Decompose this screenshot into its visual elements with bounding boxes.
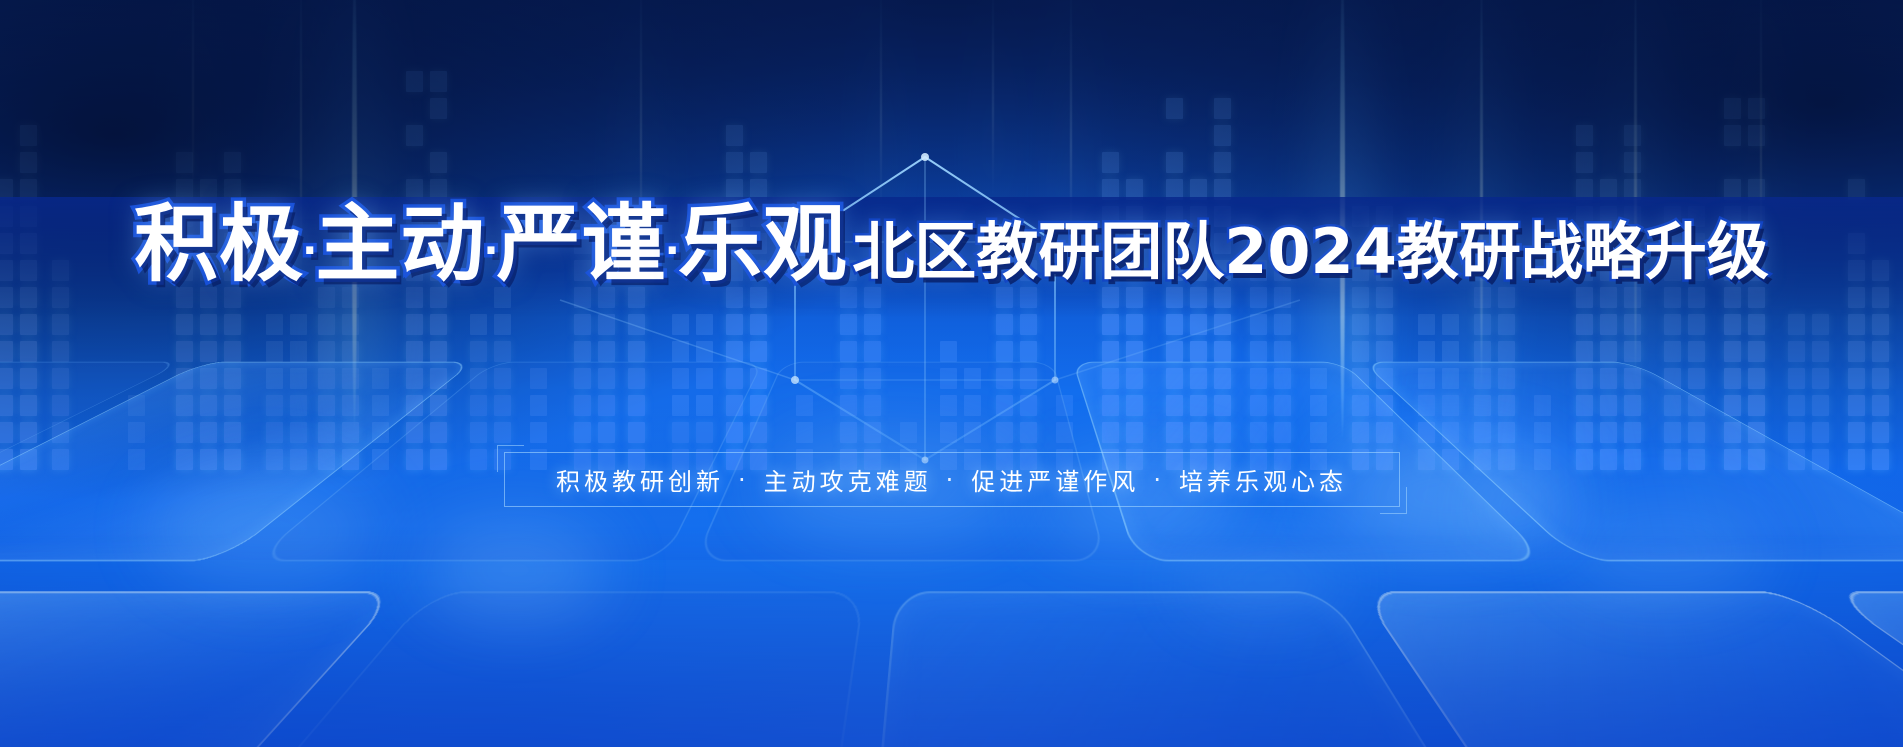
tagline-separator: · <box>940 466 964 494</box>
title-word: 严谨 <box>497 195 667 293</box>
title-word: 积极 <box>134 195 304 293</box>
title-word: 乐观 <box>678 195 848 293</box>
main-title: 积极·主动·严谨·乐观 <box>134 196 848 299</box>
title-word: 主动 <box>315 195 485 293</box>
tagline-text: 积极教研创新·主动攻克难题·促进严谨作风·培养乐观心态 <box>504 452 1400 507</box>
banner-root: 积极·主动·严谨·乐观 北区教研团队2024教研战略升级 积极教研创新·主动攻克… <box>0 0 1903 747</box>
tagline-item: 主动攻克难题 <box>756 462 940 497</box>
titles-block: 积极·主动·严谨·乐观 北区教研团队2024教研战略升级 <box>0 196 1903 299</box>
subtitle: 北区教研团队2024教研战略升级 <box>852 215 1769 289</box>
tagline-item: 培养乐观心态 <box>1171 462 1355 497</box>
headline-stage: 积极·主动·严谨·乐观 北区教研团队2024教研战略升级 积极教研创新·主动攻克… <box>0 0 1903 747</box>
tagline-separator: · <box>1147 466 1171 494</box>
tagline-item: 积极教研创新 <box>548 462 732 497</box>
tagline-item: 促进严谨作风 <box>963 462 1147 497</box>
tagline-frame-wrapper: 积极教研创新·主动攻克难题·促进严谨作风·培养乐观心态 <box>504 452 1400 507</box>
tagline-separator: · <box>732 466 756 494</box>
